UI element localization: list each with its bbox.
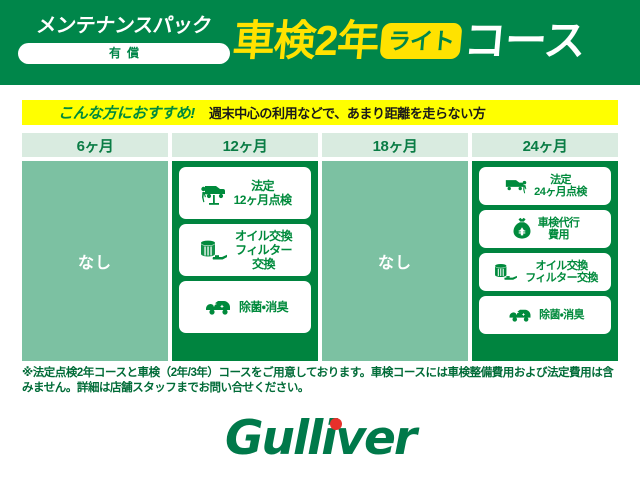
table-column-18-months: 18ヶ月 なし (322, 133, 468, 361)
column-header-label: 12ヶ月 (223, 135, 268, 156)
brand-logo: Gulliver (0, 412, 640, 466)
car-sparkle-icon (202, 297, 234, 317)
recommendation-strip: こんな方におすすめ! 週末中心の利用などで、あまり距離を走らない方 (22, 100, 618, 125)
column-header: 24ヶ月 (472, 133, 618, 157)
coverage-table: 6ヶ月 なし 12ヶ月 (22, 133, 618, 361)
column-header-label: 18ヶ月 (373, 135, 418, 156)
course-headline: 車検2年 ライト コース (233, 12, 585, 70)
column-header-label: 6ヶ月 (77, 135, 114, 156)
footnote-text: ※法定点検2年コースと車検（2年/3年）コースをご用意しております。車検コースに… (22, 366, 622, 396)
oil-filter-change-icon (198, 236, 230, 264)
car-lift-inspection-icon (503, 175, 529, 197)
column-header: 6ヶ月 (22, 133, 168, 157)
column-header: 18ヶ月 (322, 133, 468, 157)
service-card-label: オイル交換 フィルター 交換 (235, 229, 292, 271)
header-banner: メンテナンスパック 有償 車検2年 ライト コース (0, 0, 640, 85)
service-card: 除菌・消臭 (179, 281, 311, 333)
column-body: 法定 24ヶ月点検 車検代行 費用 (472, 161, 618, 361)
service-card: 除菌・消臭 (479, 296, 611, 334)
recommendation-body: 週末中心の利用などで、あまり距離を走らない方 (209, 103, 485, 122)
service-card-label: 除菌・消臭 (239, 300, 288, 314)
service-card-label: 法定 12ヶ月点検 (234, 179, 292, 207)
table-column-6-months: 6ヶ月 なし (22, 133, 168, 361)
maintenance-pack-title: メンテナンスパック (17, 14, 232, 38)
service-card: オイル交換 フィルター交換 (479, 253, 611, 291)
table-column-24-months: 24ヶ月 法定 24ヶ月点検 (472, 133, 618, 361)
service-card-label: 法定 24ヶ月点検 (534, 174, 587, 199)
service-card: 法定 24ヶ月点検 (479, 167, 611, 205)
car-lift-inspection-icon (199, 179, 229, 207)
paid-badge-label: 有償 (103, 43, 145, 64)
course-headline-main: 車検2年 (231, 17, 381, 65)
lite-badge: ライト (380, 23, 463, 59)
lite-badge-label: ライト (387, 28, 455, 54)
table-column-12-months: 12ヶ月 法定 12ヶ月点 (172, 133, 318, 361)
maintenance-pack-infographic: メンテナンスパック 有償 車検2年 ライト コース こんな方におすすめ! 週末中… (0, 0, 640, 480)
no-service-label: なし (378, 249, 412, 273)
service-card: 法定 12ヶ月点検 (179, 167, 311, 219)
column-body: なし (22, 161, 168, 361)
car-sparkle-icon (506, 306, 534, 324)
logo-dot-accent (330, 418, 342, 430)
column-body: なし (322, 161, 468, 361)
brand-logo-text: Gulliver (225, 411, 415, 466)
oil-filter-change-icon (492, 260, 520, 284)
recommendation-lead: こんな方におすすめ! (58, 102, 195, 123)
service-card-label: 除菌・消臭 (539, 309, 584, 322)
service-card-label: オイル交換 フィルター交換 (525, 260, 598, 285)
service-card: 車検代行 費用 (479, 210, 611, 248)
column-header: 12ヶ月 (172, 133, 318, 157)
service-card-label: 車検代行 費用 (538, 217, 580, 242)
column-header-label: 24ヶ月 (523, 135, 568, 156)
no-service-label: なし (78, 249, 112, 273)
paid-badge: 有償 (18, 43, 230, 64)
money-bag-yen-icon (511, 217, 533, 241)
course-headline-suffix: コース (462, 17, 587, 65)
maintenance-pack-block: メンテナンスパック 有償 (18, 14, 230, 64)
column-body: 法定 12ヶ月点検 オイル交換 フィ (172, 161, 318, 361)
service-card: オイル交換 フィルター 交換 (179, 224, 311, 276)
